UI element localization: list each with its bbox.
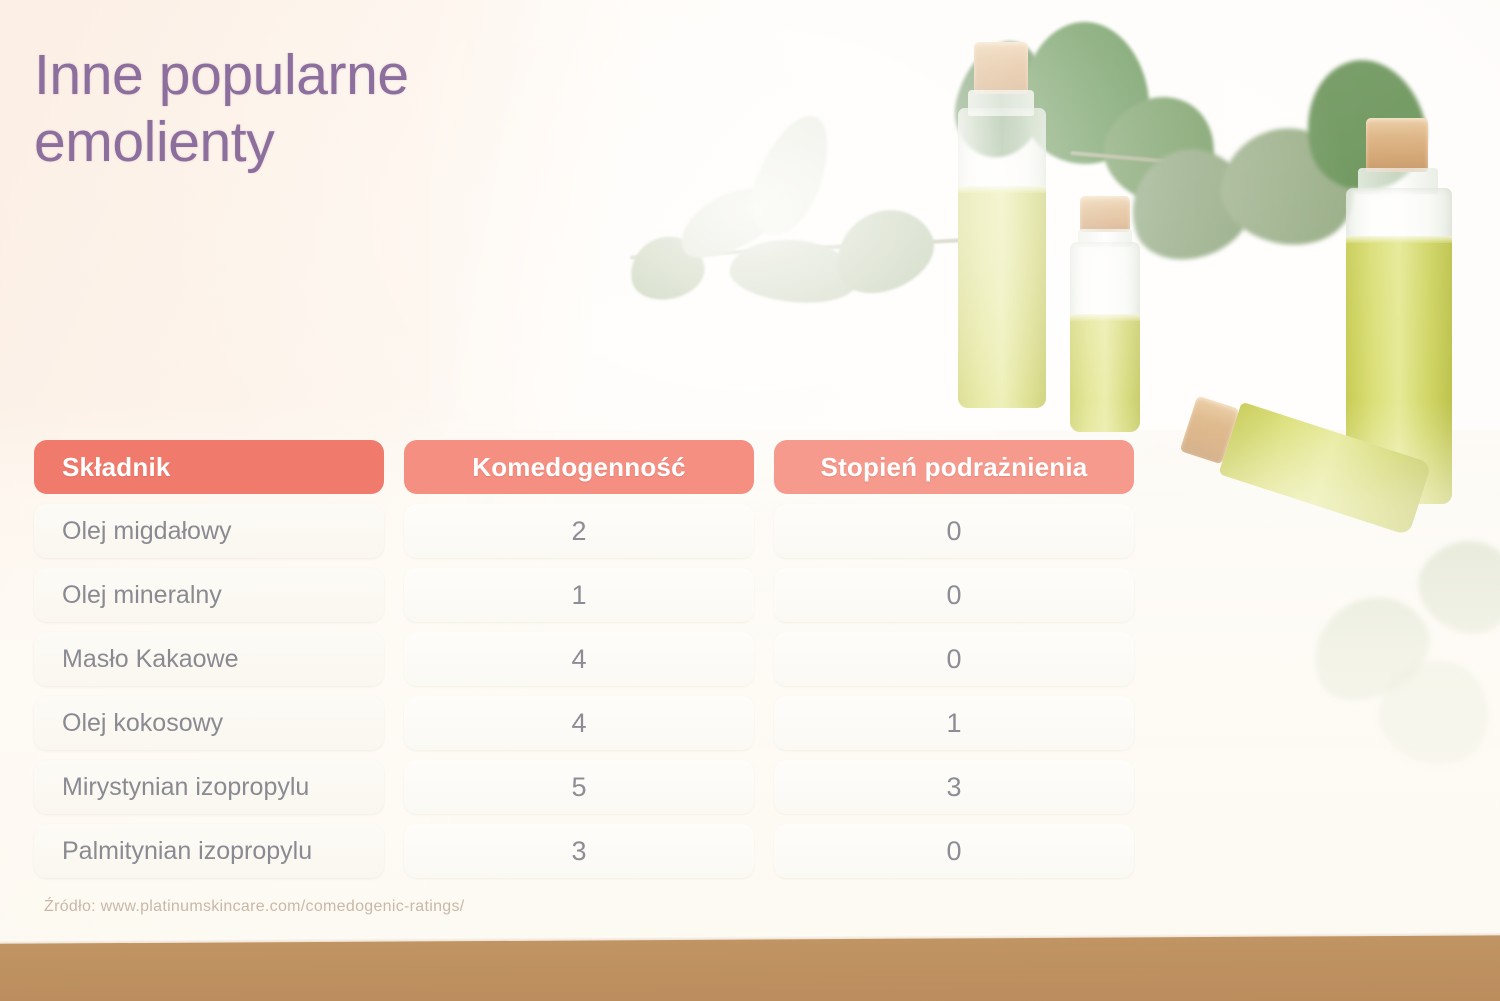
cell-comedogenicity: 2: [404, 504, 754, 558]
cell-irritation: 1: [774, 696, 1134, 750]
slide-screenshot: Inne popularne emolienty Składnik Komedo…: [0, 0, 1500, 1001]
oil-surface: [958, 186, 1046, 193]
cell-comedogenicity: 4: [404, 696, 754, 750]
bottle-oil: [1070, 314, 1140, 432]
table-row: Olej migdałowy 2 0: [34, 504, 1134, 558]
cell-ingredient: Olej kokosowy: [34, 696, 384, 750]
bottle-glass: [1070, 242, 1140, 432]
cork-stopper-icon: [1080, 196, 1130, 232]
source-citation: Źródło: www.platinumskincare.com/comedog…: [44, 898, 465, 916]
emollients-table: Składnik Komedogenność Stopień podrażnie…: [34, 440, 1134, 888]
table-row: Mirystynian izopropylu 5 3: [34, 760, 1134, 814]
cell-ingredient: Olej mineralny: [34, 568, 384, 622]
bottle-glass: [958, 108, 1046, 408]
header-ingredient: Składnik: [34, 440, 384, 494]
page-title: Inne popularne emolienty: [34, 42, 554, 175]
header-comedogenicity: Komedogenność: [404, 440, 754, 494]
cork-stopper-icon: [974, 42, 1028, 94]
cell-ingredient: Palmitynian izopropylu: [34, 824, 384, 878]
cell-comedogenicity: 4: [404, 632, 754, 686]
table-row: Palmitynian izopropylu 3 0: [34, 824, 1134, 878]
cell-comedogenicity: 5: [404, 760, 754, 814]
cork-stopper-icon: [1366, 118, 1428, 172]
oil-surface: [1346, 236, 1452, 243]
cell-irritation: 3: [774, 760, 1134, 814]
table-row: Masło Kakaowe 4 0: [34, 632, 1134, 686]
cell-irritation: 0: [774, 824, 1134, 878]
cell-irritation: 0: [774, 504, 1134, 558]
wall-strip: [0, 935, 1500, 1001]
table-row: Olej mineralny 1 0: [34, 568, 1134, 622]
cell-comedogenicity: 1: [404, 568, 754, 622]
cell-comedogenicity: 3: [404, 824, 754, 878]
oil-surface: [1070, 314, 1140, 321]
cell-irritation: 0: [774, 632, 1134, 686]
bottle-oil: [958, 186, 1046, 408]
slide-surface: Inne popularne emolienty Składnik Komedo…: [0, 0, 1500, 952]
cell-irritation: 0: [774, 568, 1134, 622]
header-irritation: Stopień podrażnienia: [774, 440, 1134, 494]
cell-ingredient: Olej migdałowy: [34, 504, 384, 558]
cell-ingredient: Masło Kakaowe: [34, 632, 384, 686]
cell-ingredient: Mirystynian izopropylu: [34, 760, 384, 814]
table-row: Olej kokosowy 4 1: [34, 696, 1134, 750]
table-header-row: Składnik Komedogenność Stopień podrażnie…: [34, 440, 1134, 494]
